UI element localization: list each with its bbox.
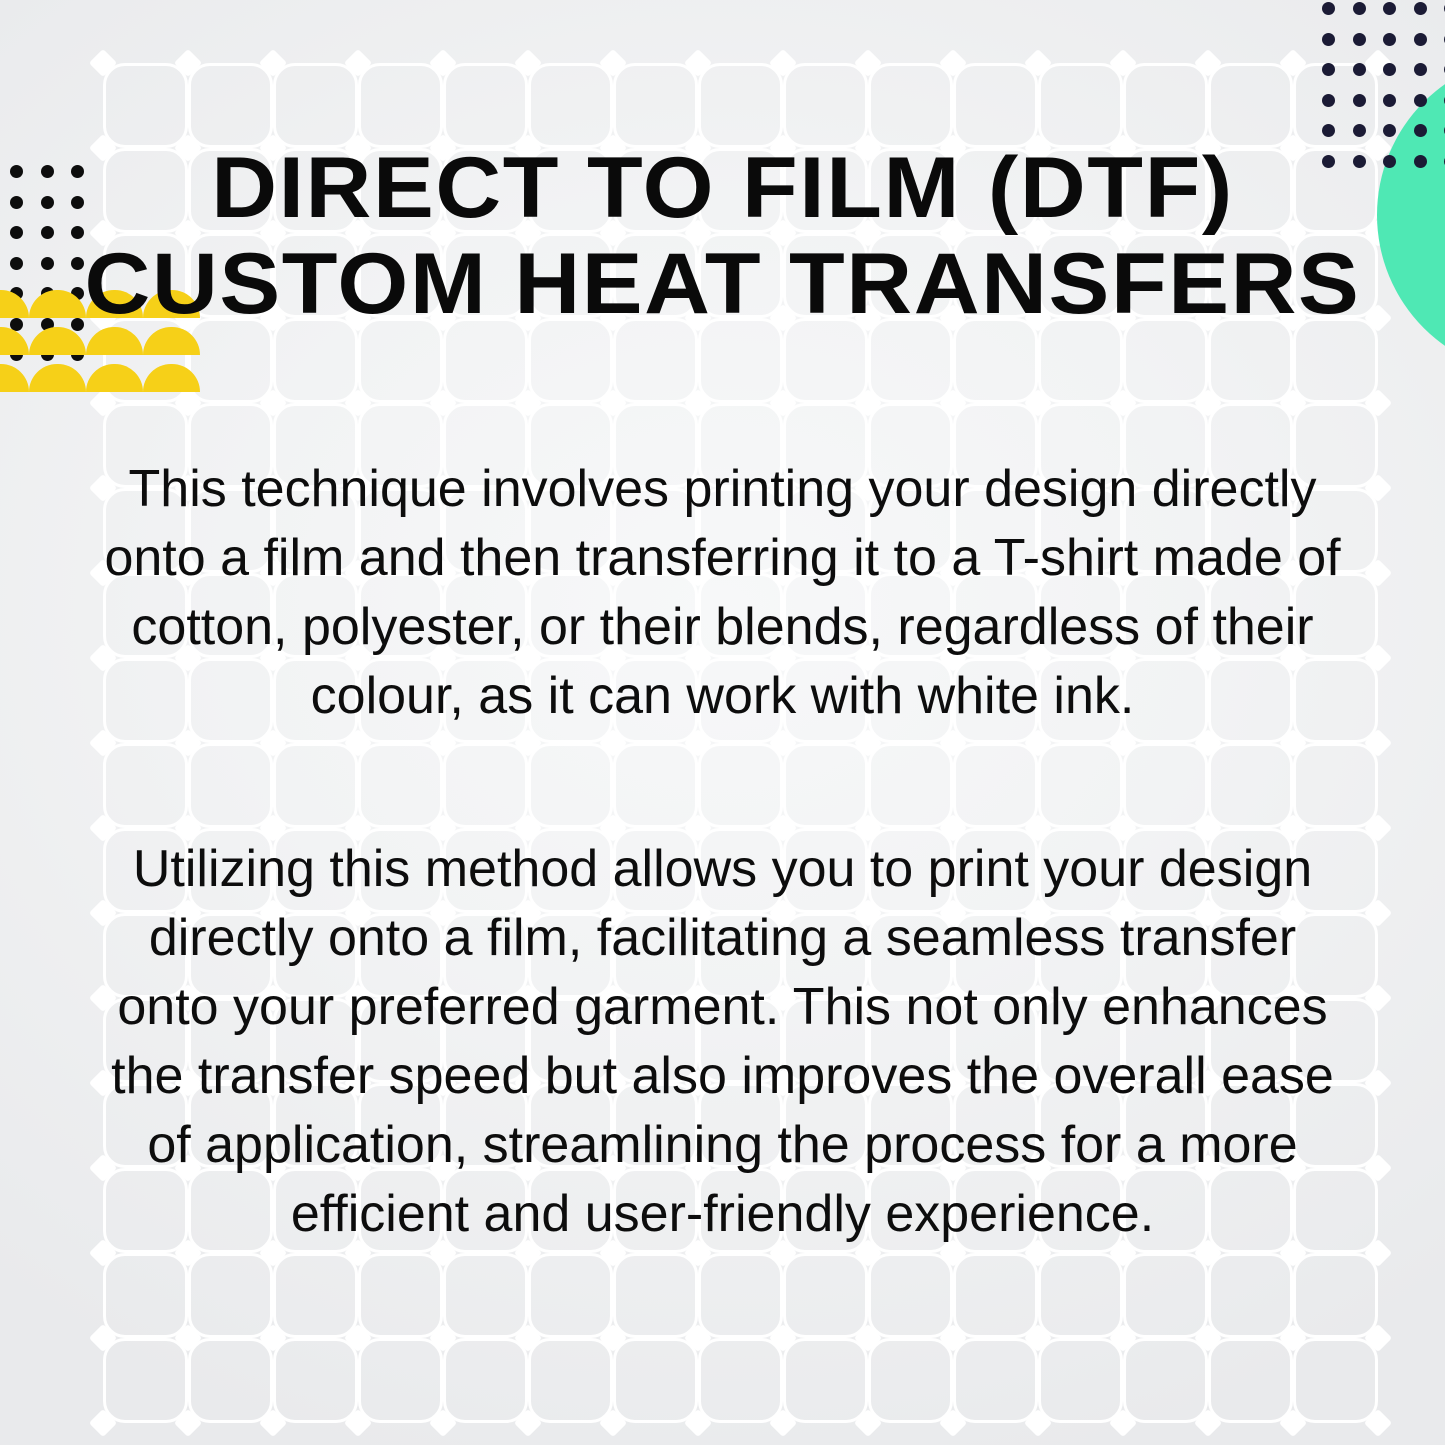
poster-content: DIRECT TO FILM (DTF) CUSTOM HEAT TRANSFE… (0, 0, 1445, 1445)
body-paragraph-2: Utilizing this method allows you to prin… (95, 835, 1350, 1249)
body-paragraph-1: This technique involves printing your de… (95, 455, 1350, 731)
title-line-2: CUSTOM HEAT TRANSFERS (0, 236, 1445, 332)
title-line-1: DIRECT TO FILM (DTF) (0, 140, 1445, 236)
page-title: DIRECT TO FILM (DTF) CUSTOM HEAT TRANSFE… (0, 140, 1445, 332)
poster-canvas: DIRECT TO FILM (DTF) CUSTOM HEAT TRANSFE… (0, 0, 1445, 1445)
body-copy: This technique involves printing your de… (95, 455, 1350, 1249)
